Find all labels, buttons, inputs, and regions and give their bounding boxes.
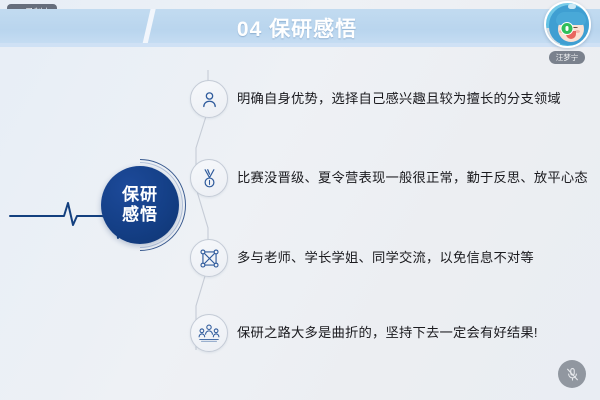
avatar [544,1,591,48]
heartbeat-line-icon [10,215,102,217]
presenter-tile[interactable]: 汪梦宁 [538,1,596,64]
list-item: 保研之路大多是曲折的，坚持下去一定会有好结果! [190,314,538,352]
hub-label-line-2: 感悟 [122,205,158,225]
list-item-text: 保研之路大多是曲折的，坚持下去一定会有好结果! [237,325,538,342]
list-item: 比赛没晋级、夏令营表现一般很正常，勤于反思、放平心态 [190,159,588,197]
avatar-bow [568,4,576,9]
list-item-text: 明确自身优势，选择自己感兴趣且较为擅长的分支领域 [237,91,561,108]
hub-label-line-1: 保研 [122,185,158,205]
slide-canvas: 录制中 04 保研感悟 汪梦宁 保研 感悟 [0,0,600,400]
list-item-text: 多与老师、学长学姐、同学交流，以免信息不对等 [237,250,534,267]
hub-label: 保研 感悟 [101,166,179,244]
mic-on-icon [561,22,574,35]
list-item: 明确自身优势，选择自己感兴趣且较为擅长的分支领域 [190,80,561,118]
list-item: 多与老师、学长学姐、同学交流，以免信息不对等 [190,239,534,277]
network-exchange-icon [190,239,228,277]
list-item-text: 比赛没晋级、夏令营表现一般很正常，勤于反思、放平心态 [237,170,588,187]
medal-icon [190,159,228,197]
person-icon [190,80,228,118]
page-title: 04 保研感悟 [0,9,600,47]
group-people-icon [190,314,228,352]
mic-muted-icon[interactable] [558,360,586,388]
presenter-name-label: 汪梦宁 [549,51,586,64]
